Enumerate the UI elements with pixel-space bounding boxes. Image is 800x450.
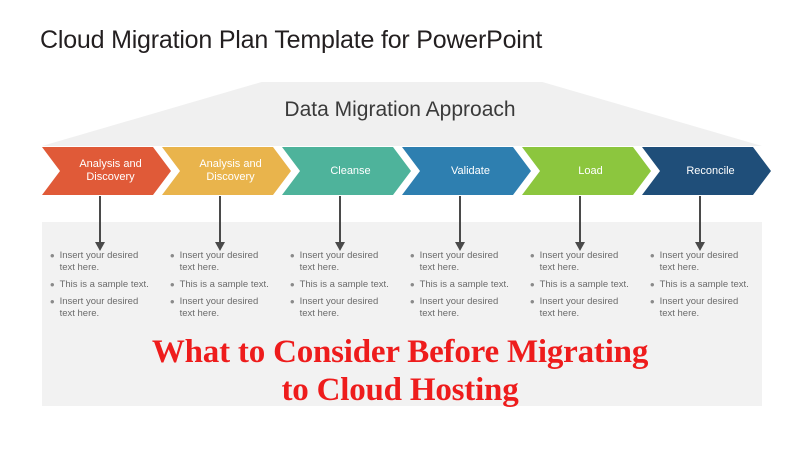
process-step-1[interactable]: Analysis and Discovery [42, 147, 171, 195]
list-item[interactable]: •Insert your desired text here. [290, 250, 392, 274]
list-item[interactable]: •This is a sample text. [530, 279, 632, 291]
bullet-dot-icon: • [290, 279, 295, 291]
bullet-dot-icon: • [170, 296, 175, 308]
bullet-text: This is a sample text. [540, 279, 629, 291]
bullet-text: Insert your desired text here. [60, 250, 152, 274]
bullet-text: Insert your desired text here. [300, 250, 392, 274]
process-step-5[interactable]: Load [522, 147, 651, 195]
list-item[interactable]: •This is a sample text. [410, 279, 512, 291]
process-chevron-row: Analysis and DiscoveryAnalysis and Disco… [42, 147, 762, 195]
process-step-3[interactable]: Cleanse [282, 147, 411, 195]
list-item[interactable]: •Insert your desired text here. [50, 250, 152, 274]
bullet-column-6: •Insert your desired text here.•This is … [642, 250, 762, 325]
connector-arrow-1 [94, 196, 106, 252]
bullet-text: Insert your desired text here. [180, 250, 272, 274]
bullet-dot-icon: • [530, 296, 535, 308]
process-step-label: Reconcile [672, 165, 740, 178]
overlay-headline-line-1: What to Consider Before Migrating [152, 334, 648, 370]
bullet-text: Insert your desired text here. [660, 250, 752, 274]
list-item[interactable]: •Insert your desired text here. [290, 296, 392, 320]
connector-arrow-4 [454, 196, 466, 252]
bullet-dot-icon: • [50, 250, 55, 262]
overlay-headline-line-2: to Cloud Hosting [0, 371, 800, 409]
list-item[interactable]: •Insert your desired text here. [50, 296, 152, 320]
list-item[interactable]: •Insert your desired text here. [410, 250, 512, 274]
list-item[interactable]: •This is a sample text. [170, 279, 272, 291]
list-item[interactable]: •This is a sample text. [290, 279, 392, 291]
list-item[interactable]: •Insert your desired text here. [650, 296, 752, 320]
arrow-stem [219, 196, 221, 244]
bullet-text: Insert your desired text here. [540, 250, 632, 274]
bullet-dot-icon: • [650, 296, 655, 308]
list-item[interactable]: •Insert your desired text here. [170, 296, 272, 320]
process-step-label: Analysis and Discovery [65, 158, 147, 184]
list-item[interactable]: •This is a sample text. [50, 279, 152, 291]
process-step-label: Cleanse [316, 165, 376, 178]
list-item[interactable]: •Insert your desired text here. [410, 296, 512, 320]
bullet-dot-icon: • [290, 250, 295, 262]
bullet-text: This is a sample text. [60, 279, 149, 291]
bullet-text: This is a sample text. [300, 279, 389, 291]
bullet-column-3: •Insert your desired text here.•This is … [282, 250, 402, 325]
bullet-dot-icon: • [410, 250, 415, 262]
section-subtitle: Data Migration Approach [0, 98, 800, 122]
process-step-label: Validate [437, 165, 496, 178]
list-item[interactable]: •Insert your desired text here. [650, 250, 752, 274]
list-item[interactable]: •Insert your desired text here. [530, 296, 632, 320]
bullet-column-2: •Insert your desired text here.•This is … [162, 250, 282, 325]
bullet-dot-icon: • [290, 296, 295, 308]
list-item[interactable]: •Insert your desired text here. [530, 250, 632, 274]
bullet-text: Insert your desired text here. [420, 250, 512, 274]
list-item[interactable]: •This is a sample text. [650, 279, 752, 291]
bullet-text: Insert your desired text here. [60, 296, 152, 320]
bullet-text: Insert your desired text here. [540, 296, 632, 320]
bullet-dot-icon: • [530, 250, 535, 262]
arrow-stem [99, 196, 101, 244]
bullet-text: Insert your desired text here. [300, 296, 392, 320]
bullet-dot-icon: • [650, 250, 655, 262]
arrow-stem [459, 196, 461, 244]
bullet-text: This is a sample text. [420, 279, 509, 291]
bullet-text: Insert your desired text here. [420, 296, 512, 320]
overlay-headline: What to Consider Before Migrating to Clo… [0, 333, 800, 409]
bullet-columns-row: •Insert your desired text here.•This is … [42, 250, 762, 325]
bullet-column-5: •Insert your desired text here.•This is … [522, 250, 642, 325]
bullet-dot-icon: • [650, 279, 655, 291]
slide-canvas: Cloud Migration Plan Template for PowerP… [0, 0, 800, 450]
arrow-stem [579, 196, 581, 244]
process-step-label: Load [564, 165, 608, 178]
bullet-dot-icon: • [410, 279, 415, 291]
bullet-dot-icon: • [410, 296, 415, 308]
bullet-dot-icon: • [530, 279, 535, 291]
page-title: Cloud Migration Plan Template for PowerP… [40, 26, 542, 55]
bullet-dot-icon: • [170, 279, 175, 291]
process-step-6[interactable]: Reconcile [642, 147, 771, 195]
connector-arrow-3 [334, 196, 346, 252]
arrow-stem [699, 196, 701, 244]
bullet-column-4: •Insert your desired text here.•This is … [402, 250, 522, 325]
bullet-text: This is a sample text. [180, 279, 269, 291]
bullet-text: Insert your desired text here. [180, 296, 272, 320]
bullet-text: This is a sample text. [660, 279, 749, 291]
bullet-text: Insert your desired text here. [660, 296, 752, 320]
bullet-column-1: •Insert your desired text here.•This is … [42, 250, 162, 325]
bullet-dot-icon: • [50, 279, 55, 291]
list-item[interactable]: •Insert your desired text here. [170, 250, 272, 274]
connector-arrow-5 [574, 196, 586, 252]
connector-arrow-6 [694, 196, 706, 252]
process-step-4[interactable]: Validate [402, 147, 531, 195]
connector-arrow-2 [214, 196, 226, 252]
bullet-dot-icon: • [50, 296, 55, 308]
bullet-dot-icon: • [170, 250, 175, 262]
process-step-2[interactable]: Analysis and Discovery [162, 147, 291, 195]
process-step-label: Analysis and Discovery [185, 158, 267, 184]
arrow-stem [339, 196, 341, 244]
